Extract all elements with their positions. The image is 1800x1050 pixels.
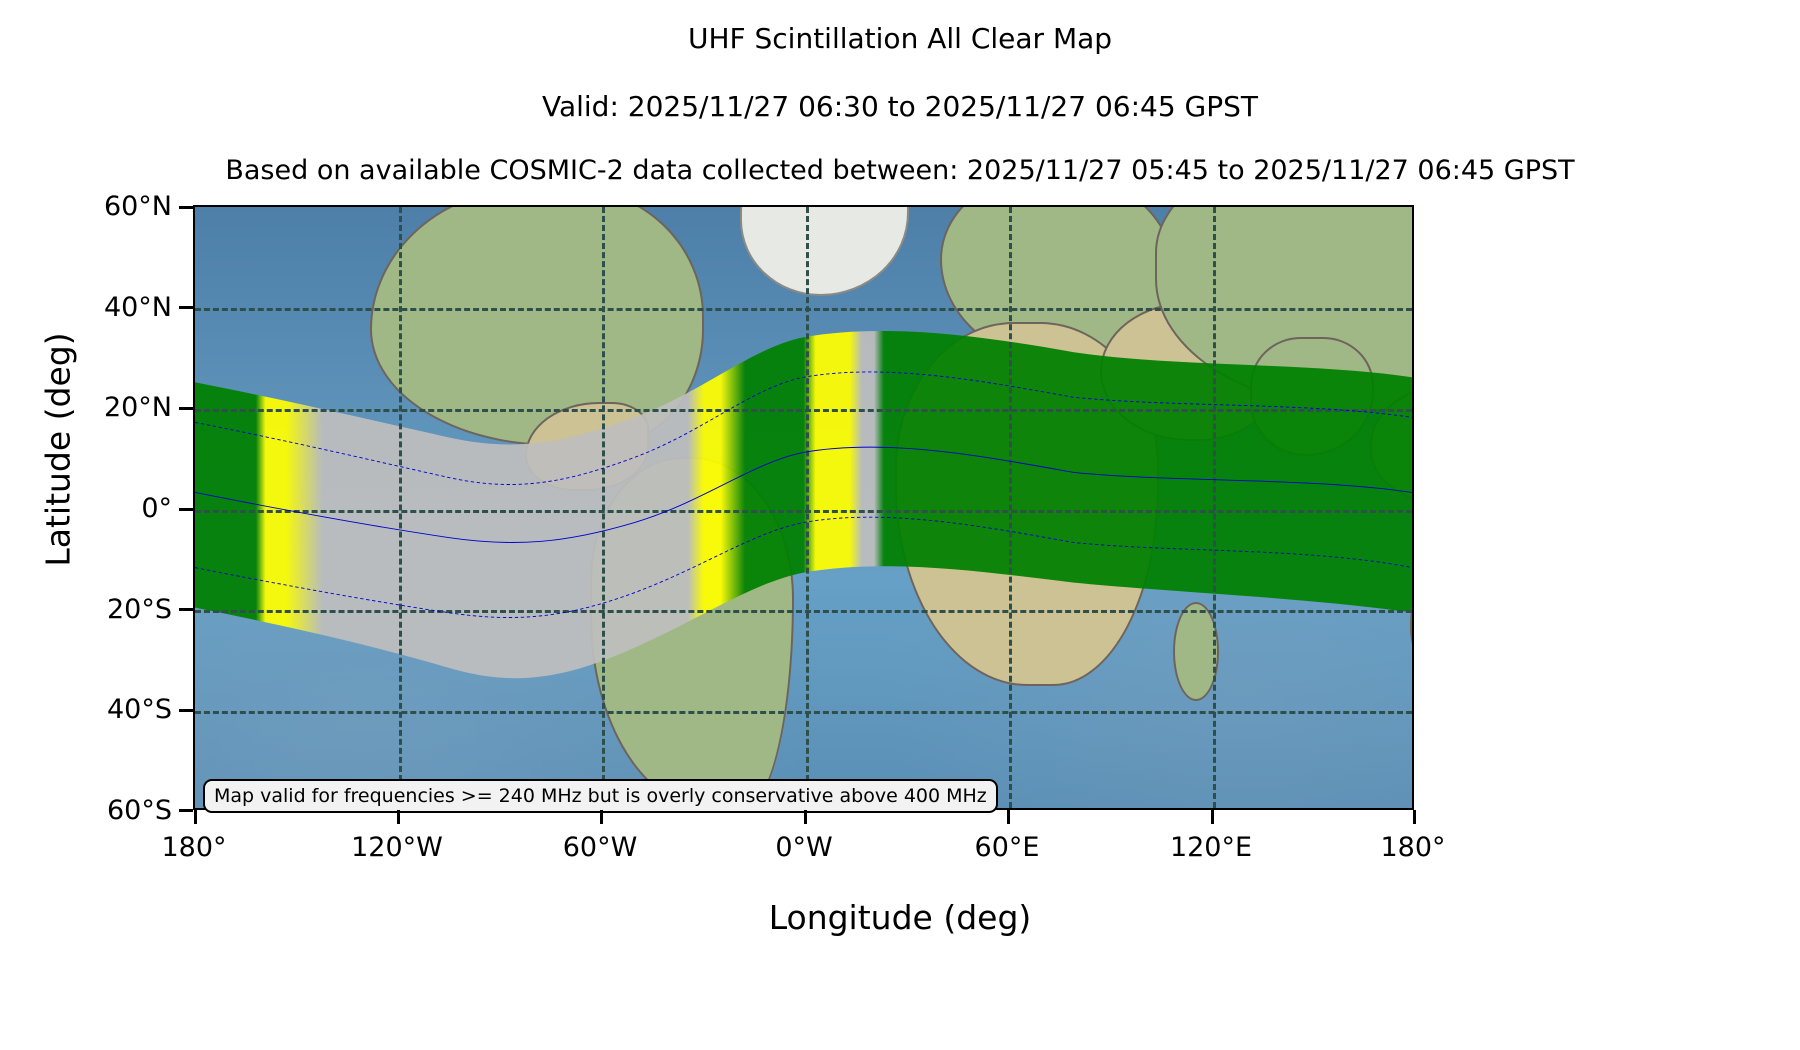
- frequency-validity-note: Map valid for frequencies >= 240 MHz but…: [203, 779, 998, 813]
- map-plot-area[interactable]: Probably Clear > 95% Probability Clear P…: [193, 205, 1414, 810]
- ytick-mark-40s: [179, 709, 193, 712]
- south-boundary-line: [195, 517, 1412, 617]
- xtick-mark-60w: [600, 810, 603, 824]
- ytick-mark-40n: [179, 306, 193, 309]
- xtick-mark-180e: [1413, 810, 1416, 824]
- xtick-label-180e: 180°: [1380, 832, 1445, 863]
- xtick-label-0: 0°W: [775, 832, 832, 863]
- xtick-label-60w: 60°W: [563, 832, 638, 863]
- xtick-mark-120w: [397, 810, 400, 824]
- ytick-label-60s: 60°S: [107, 795, 172, 826]
- data-source-note: Based on available COSMIC-2 data collect…: [0, 155, 1800, 186]
- ytick-label-40n: 40°N: [104, 292, 172, 323]
- ytick-label-40s: 40°S: [107, 694, 172, 725]
- xtick-mark-180w: [194, 810, 197, 824]
- ytick-mark-0: [179, 508, 193, 511]
- ytick-label-20s: 20°S: [107, 594, 172, 625]
- xtick-label-120w: 120°W: [351, 832, 443, 863]
- x-axis-title: Longitude (deg): [0, 898, 1800, 937]
- ytick-mark-20s: [179, 608, 193, 611]
- y-axis-title: Latitude (deg): [39, 240, 78, 660]
- xtick-mark-0: [804, 810, 807, 824]
- validity-subtitle: Valid: 2025/11/27 06:30 to 2025/11/27 06…: [0, 90, 1800, 123]
- north-boundary-line: [195, 372, 1412, 485]
- xtick-label-120e: 120°E: [1170, 832, 1252, 863]
- xtick-mark-60e: [1007, 810, 1010, 824]
- ytick-mark-20n: [179, 407, 193, 410]
- ytick-label-20n: 20°N: [104, 392, 172, 423]
- ytick-label-60n: 60°N: [104, 191, 172, 222]
- ytick-label-0: 0°: [141, 493, 172, 524]
- magnetic-equator-curves: [195, 207, 1412, 808]
- xtick-label-60e: 60°E: [975, 832, 1040, 863]
- ytick-mark-60s: [179, 809, 193, 812]
- ytick-mark-60n: [179, 206, 193, 209]
- page-title: UHF Scintillation All Clear Map: [0, 22, 1800, 55]
- xtick-mark-120e: [1211, 810, 1214, 824]
- xtick-label-180w: 180°: [161, 832, 226, 863]
